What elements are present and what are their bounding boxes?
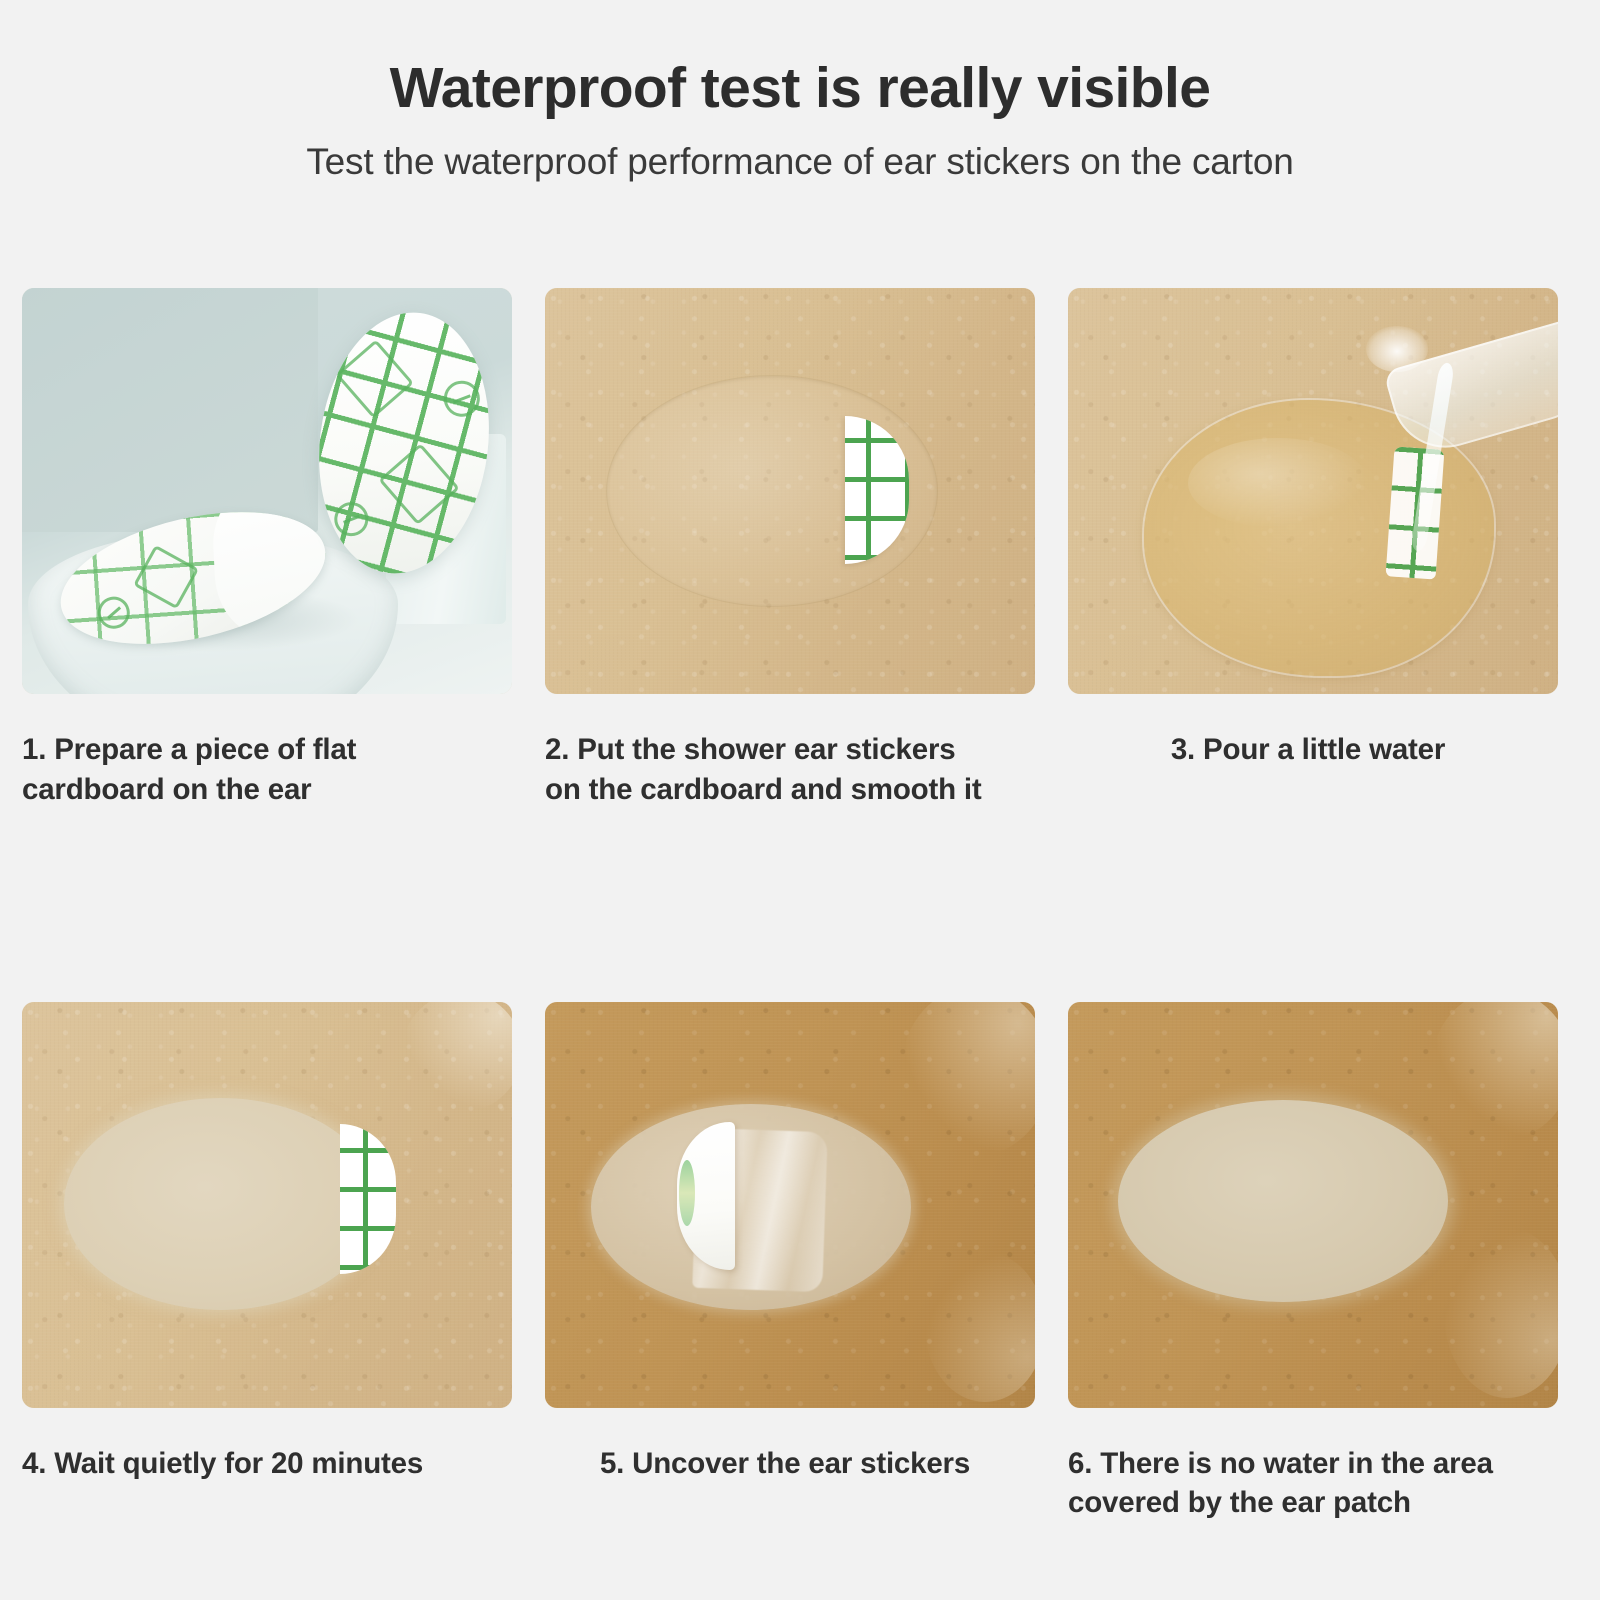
header: Waterproof test is really visible Test t…	[0, 0, 1600, 182]
water-highlight	[1188, 438, 1368, 528]
step-photo-6	[1068, 1002, 1558, 1408]
wet-edge-highlight	[1444, 1228, 1558, 1398]
step-caption-4: 4. Wait quietly for 20 minutes	[22, 1444, 532, 1484]
step-card-6: 6. There is no water in the area covered…	[1068, 1002, 1578, 1524]
step-photo-3	[1068, 288, 1558, 694]
step-caption-5: 5. Uncover the ear stickers	[545, 1444, 1055, 1484]
step-card-2: 2. Put the shower ear stickers on the ca…	[545, 288, 1055, 810]
row-separator	[22, 810, 1578, 1002]
ear-patch-standing	[305, 303, 504, 584]
step-caption-3: 3. Pour a little water	[1068, 730, 1578, 770]
page-subtitle: Test the waterproof performance of ear s…	[0, 142, 1600, 183]
step-caption-2: 2. Put the shower ear stickers on the ca…	[545, 730, 1055, 810]
step-card-3: 3. Pour a little water	[1068, 288, 1578, 810]
step-photo-4	[22, 1002, 512, 1408]
patch-liner-tab	[845, 416, 909, 564]
liner-grid-print	[340, 1124, 396, 1274]
step-card-1: 1. Prepare a piece of flat cardboard on …	[22, 288, 532, 810]
step-photo-1	[22, 288, 512, 694]
steps-grid: 1. Prepare a piece of flat cardboard on …	[22, 288, 1578, 1523]
step-card-4: 4. Wait quietly for 20 minutes	[22, 1002, 532, 1524]
dry-patch-area	[64, 1098, 378, 1310]
step-card-5: 5. Uncover the ear stickers	[545, 1002, 1055, 1524]
dry-patch-area	[1118, 1100, 1448, 1302]
step-photo-2	[545, 288, 1035, 694]
studio-wall	[22, 288, 318, 532]
wet-edge-highlight	[925, 1252, 1035, 1402]
liner-grid-print	[845, 416, 909, 564]
patch-liner-tab	[340, 1124, 396, 1274]
page-title: Waterproof test is really visible	[0, 58, 1600, 120]
patch-grid-print	[305, 303, 504, 584]
step-photo-5	[545, 1002, 1035, 1408]
step-caption-1: 1. Prepare a piece of flat cardboard on …	[22, 730, 532, 810]
step-caption-6: 6. There is no water in the area covered…	[1068, 1444, 1578, 1524]
waterproof-test-infographic: Waterproof test is really visible Test t…	[0, 0, 1600, 1600]
